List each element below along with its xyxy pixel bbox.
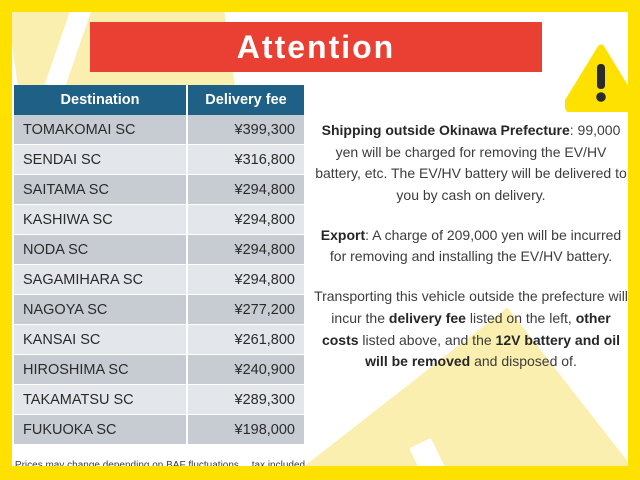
delivery-fee-table: Destination Delivery fee TOMAKOMAI SC¥39… [14, 85, 304, 445]
table-row: KANSAI SC¥261,800 [14, 325, 304, 355]
table-row: NODA SC¥294,800 [14, 235, 304, 265]
notice-text-segment: Shipping outside Okinawa Prefecture [322, 122, 570, 138]
cell-destination: KANSAI SC [14, 325, 188, 355]
notice-text-segment: delivery fee [389, 310, 466, 326]
cell-delivery-fee: ¥198,000 [188, 415, 304, 445]
transport-notice: Transporting this vehicle outside the pr… [312, 286, 628, 373]
notice-text-segment: listed on the left, [466, 310, 576, 326]
cell-destination: SAGAMIHARA SC [14, 265, 188, 295]
cell-destination: KASHIWA SC [14, 205, 188, 235]
cell-destination: TAKAMATSU SC [14, 385, 188, 415]
notice-text-segment: listed above, and the [359, 332, 496, 348]
notices-panel: Shipping outside Okinawa Prefecture: 99,… [312, 106, 628, 373]
export-notice: Export: A charge of 209,000 yen will be … [312, 225, 628, 268]
cell-destination: HIROSHIMA SC [14, 355, 188, 385]
cell-delivery-fee: ¥289,300 [188, 385, 304, 415]
notice-text-segment: and disposed of. [470, 353, 577, 369]
cell-destination: SENDAI SC [14, 145, 188, 175]
okinawa-shipping-notice: Shipping outside Okinawa Prefecture: 99,… [312, 120, 628, 207]
table-footnote: Prices may change depending on BAF fluct… [14, 460, 306, 466]
cell-delivery-fee: ¥399,300 [188, 115, 304, 145]
table-row: SENDAI SC¥316,800 [14, 145, 304, 175]
cell-delivery-fee: ¥294,800 [188, 175, 304, 205]
notice-page: Attention Destination Delivery fee TOMAK… [0, 0, 640, 480]
table-row: FUKUOKA SC¥198,000 [14, 415, 304, 445]
cell-delivery-fee: ¥294,800 [188, 205, 304, 235]
cell-destination: FUKUOKA SC [14, 415, 188, 445]
table-row: SAGAMIHARA SC¥294,800 [14, 265, 304, 295]
cell-delivery-fee: ¥261,800 [188, 325, 304, 355]
table-row: KASHIWA SC¥294,800 [14, 205, 304, 235]
cell-destination: NODA SC [14, 235, 188, 265]
banner-title: Attention [237, 31, 395, 63]
table-row: TOMAKOMAI SC¥399,300 [14, 115, 304, 145]
column-header-delivery-fee: Delivery fee [188, 85, 304, 115]
attention-banner: Attention [90, 22, 542, 72]
cell-delivery-fee: ¥294,800 [188, 235, 304, 265]
table-row: SAITAMA SC¥294,800 [14, 175, 304, 205]
table-header-row: Destination Delivery fee [14, 85, 304, 115]
cell-delivery-fee: ¥277,200 [188, 295, 304, 325]
column-header-destination: Destination [14, 85, 188, 115]
table-row: NAGOYA SC¥277,200 [14, 295, 304, 325]
notice-text-segment: Export [321, 227, 365, 243]
table-body: TOMAKOMAI SC¥399,300SENDAI SC¥316,800SAI… [14, 115, 304, 445]
decor-exclamation-bar-top-left [45, 12, 93, 91]
notice-card: Attention Destination Delivery fee TOMAK… [12, 12, 628, 466]
notice-text-segment: : A charge of 209,000 yen will be incurr… [330, 227, 621, 265]
cell-delivery-fee: ¥294,800 [188, 265, 304, 295]
cell-delivery-fee: ¥240,900 [188, 355, 304, 385]
cell-destination: NAGOYA SC [14, 295, 188, 325]
decor-exclamation-bar-bottom-right [409, 438, 471, 466]
table-header: Destination Delivery fee [14, 85, 304, 115]
table-row: HIROSHIMA SC¥240,900 [14, 355, 304, 385]
cell-destination: SAITAMA SC [14, 175, 188, 205]
cell-delivery-fee: ¥316,800 [188, 145, 304, 175]
warning-triangle-icon [565, 44, 628, 112]
cell-destination: TOMAKOMAI SC [14, 115, 188, 145]
table-row: TAKAMATSU SC¥289,300 [14, 385, 304, 415]
